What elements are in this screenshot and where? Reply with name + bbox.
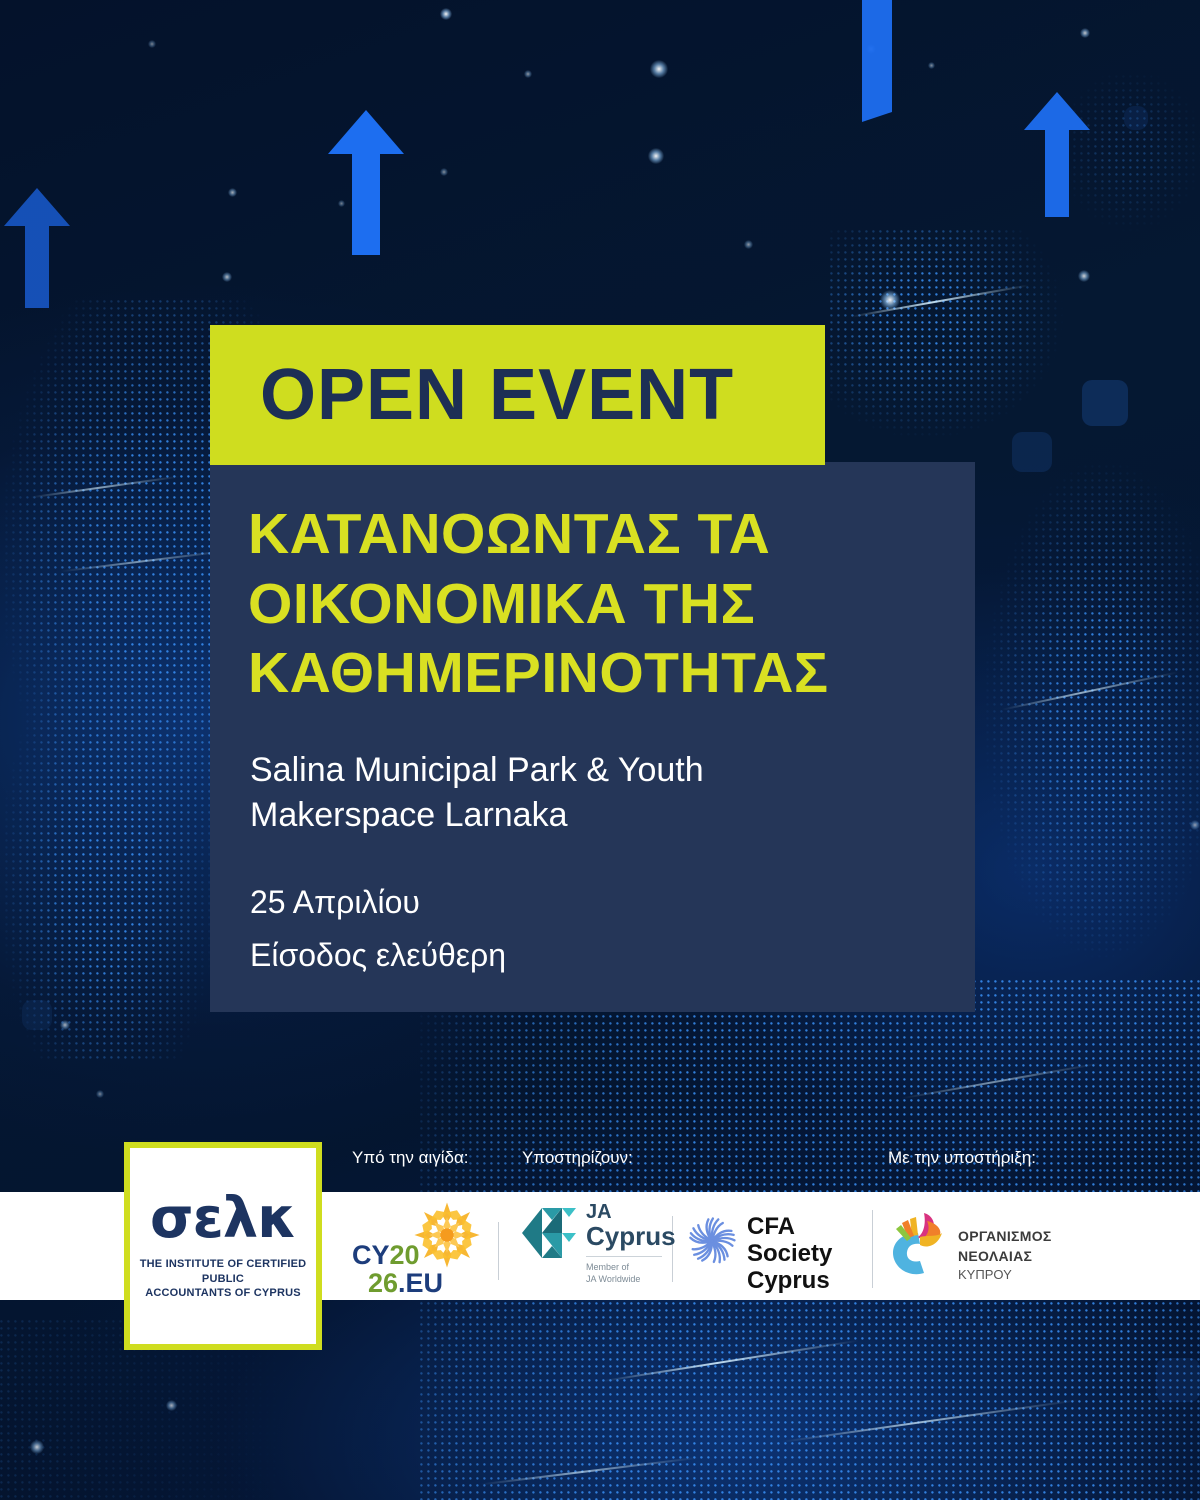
open-event-label: OPEN EVENT	[260, 359, 734, 431]
particle-glow	[524, 70, 532, 78]
particle-glow	[228, 188, 237, 197]
cfa-name: CFA Society Cyprus	[747, 1214, 865, 1295]
cfa-line-1: CFA Society	[747, 1214, 865, 1268]
ja-member-line-2: JA Worldwide	[586, 1274, 640, 1286]
cfa-society-cyprus-logo: CFA Society Cyprus	[685, 1212, 865, 1282]
particle-glow	[928, 62, 935, 69]
onek-line-1: ΟΡΓΑΝΙΣΜΟΣ	[958, 1227, 1052, 1247]
particle-glow	[148, 40, 156, 48]
page-title: ΚΑΤΑΝΟΩΝΤΑΣ ΤΑ ΟΙΚΟΝΟΜΙΚΑ ΤΗΣ ΚΑΘΗΜΕΡΙΝΟ…	[248, 500, 948, 709]
onek-logo: ΟΡΓΑΝΙΣΜΟΣ ΝΕΟΛΑΙΑΣ ΚΥΠΡΟΥ	[880, 1205, 1060, 1295]
cy2026-eu-logo: CY20 26.EU	[350, 1202, 490, 1292]
particle-glow	[744, 240, 753, 249]
ja-line-2: Cyprus	[586, 1223, 676, 1251]
up-arrow-icon	[326, 110, 406, 255]
particle-glow	[648, 148, 664, 164]
soft-square-shape	[1156, 1358, 1200, 1402]
venue-line-2: Makerspace Larnaka	[250, 793, 870, 838]
selk-logo: σελκ THE INSTITUTE OF CERTIFIED PUBLIC A…	[124, 1142, 322, 1350]
vertical-bar-shape	[858, 0, 898, 122]
particle-glow	[1190, 820, 1200, 830]
particle-glow	[440, 168, 448, 176]
logo-divider	[872, 1210, 873, 1288]
event-details: 25 Απριλίου Είσοδος ελεύθερη	[250, 876, 870, 982]
ja-rule	[586, 1256, 662, 1257]
cy2026-26: 26	[368, 1268, 398, 1298]
up-arrow-icon	[1022, 92, 1092, 217]
ja-line-1: JA	[586, 1202, 676, 1223]
venue-line-1: Salina Municipal Park & Youth	[250, 748, 870, 793]
event-date: 25 Απριλίου	[250, 876, 870, 929]
onek-line-2: ΝΕΟΛΑΙΑΣ	[958, 1247, 1052, 1267]
particle-glow	[96, 1090, 104, 1098]
particle-glow	[30, 1440, 44, 1454]
selk-acronym: σελκ	[150, 1191, 296, 1247]
headline-line-3: ΚΑΘΗΜΕΡΙΝΟΤΗΤΑΣ	[248, 639, 948, 709]
cy2026-eu: .EU	[398, 1268, 443, 1298]
headline-line-2: ΟΙΚΟΝΟΜΙΚΑ ΤΗΣ	[248, 570, 948, 640]
selk-subtitle-line-2: ACCOUNTANTS OF CYPRUS	[138, 1286, 308, 1301]
onek-line-3: ΚΥΠΡΟΥ	[958, 1266, 1052, 1284]
with-support-label: Με την υποστήριξη:	[888, 1148, 1036, 1168]
onek-name: ΟΡΓΑΝΙΣΜΟΣ ΝΕΟΛΑΙΑΣ ΚΥΠΡΟΥ	[958, 1227, 1052, 1284]
event-poster: OPEN EVENT ΚΑΤΑΝΟΩΝΤΑΣ ΤΑ ΟΙΚΟΝΟΜΙΚΑ ΤΗΣ…	[0, 0, 1200, 1500]
ja-member-text: Member of JA Worldwide	[586, 1262, 640, 1285]
selk-subtitle: THE INSTITUTE OF CERTIFIED PUBLIC ACCOUN…	[138, 1257, 308, 1302]
soft-square-shape	[1082, 380, 1128, 426]
open-event-badge: OPEN EVENT	[210, 325, 825, 465]
ja-cyprus-name: JA Cyprus	[586, 1202, 676, 1251]
selk-subtitle-line-1: THE INSTITUTE OF CERTIFIED PUBLIC	[138, 1257, 308, 1287]
cy2026-20: 20	[390, 1240, 420, 1270]
headline-line-1: ΚΑΤΑΝΟΩΝΤΑΣ ΤΑ	[248, 500, 948, 570]
up-arrow-icon	[2, 188, 72, 308]
cy2026-line-2: 26.EU	[368, 1270, 443, 1297]
aegis-label: Υπό την αιγίδα:	[352, 1148, 469, 1168]
particle-glow	[222, 272, 232, 282]
soft-square-shape	[1012, 432, 1052, 472]
particle-glow	[650, 60, 668, 78]
ja-triangle-icon	[520, 1202, 578, 1264]
ja-member-line-1: Member of	[586, 1262, 640, 1274]
event-entry: Είσοδος ελεύθερη	[250, 929, 870, 982]
cfa-line-2: Cyprus	[747, 1268, 865, 1295]
sunburst-icon	[410, 1198, 484, 1272]
soft-square-shape	[22, 1000, 52, 1030]
soft-square-shape	[1124, 106, 1148, 130]
cy2026-line-1: CY20	[352, 1242, 420, 1269]
particle-glow	[1078, 270, 1090, 282]
logo-divider	[498, 1222, 499, 1280]
cy2026-cy: CY	[352, 1240, 390, 1270]
ja-cyprus-logo: JA Cyprus Member of JA Worldwide	[520, 1200, 670, 1296]
particle-glow	[1080, 28, 1090, 38]
particle-glow	[440, 8, 452, 20]
venue: Salina Municipal Park & Youth Makerspace…	[250, 748, 870, 838]
support-label: Υποστηρίζουν:	[522, 1148, 633, 1168]
onek-flame-icon	[880, 1205, 952, 1281]
particle-glow	[60, 1020, 70, 1030]
particle-glow	[166, 1400, 177, 1411]
cfa-pinwheel-icon	[685, 1214, 739, 1268]
